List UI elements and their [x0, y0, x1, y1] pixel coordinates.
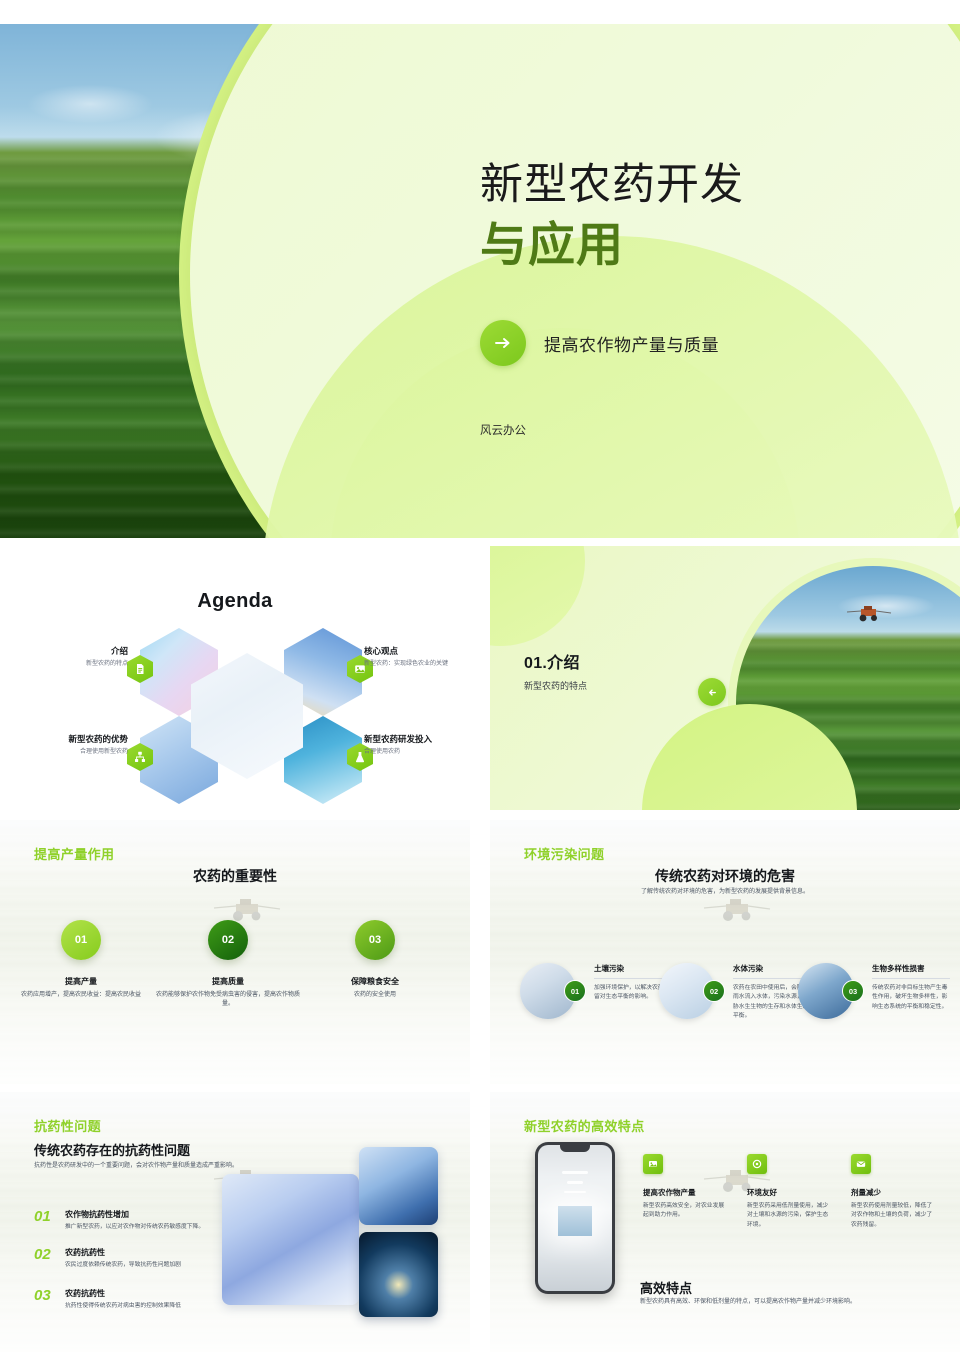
resistance-item-number: 02: [34, 1247, 56, 1270]
slide-headline: 传统农药对环境的危害: [490, 866, 960, 886]
tractor-icon: [702, 899, 772, 921]
slide-headline: 农药的重要性: [0, 866, 470, 886]
slide-deck: 抗药性是农药研发中的一个重要问题，会对农作物产量和质量造成严重影响。: [34, 1162, 244, 1172]
decorative-blob-top-left: [490, 546, 585, 646]
section-subtitle: 新型农药的特点: [524, 679, 587, 692]
env-item-number: 01: [564, 980, 586, 1002]
resistance-item-number: 01: [34, 1209, 56, 1232]
arrow-left-icon[interactable]: [698, 678, 726, 706]
agenda-item-desc: 合理使用农药: [364, 748, 470, 757]
agenda-item-desc: 合理使用新型农药: [20, 748, 128, 757]
slide-headline: 传统农药存在的抗药性问题: [34, 1140, 190, 1159]
agenda-item-heading: 介绍: [20, 646, 128, 657]
agenda-item-1[interactable]: 核心观点 新型农药：实现绿色农业的关键: [364, 646, 470, 669]
agenda-item-0[interactable]: 介绍 新型农药的特点: [20, 646, 128, 669]
env-item-number: 02: [703, 980, 725, 1002]
agenda-item-heading: 新型农药的优势: [20, 734, 128, 745]
agenda-item-desc: 新型农药：实现绿色农业的关键: [364, 660, 470, 669]
yield-item-2: 保障粮食安全 农药的安全使用: [302, 976, 448, 1000]
tractor-icon: [846, 606, 892, 622]
yield-item-desc: 农药能够保护农作物免受病虫害的侵害，提高农作物质量。: [155, 991, 301, 1009]
slide-label: 环境污染问题: [524, 844, 604, 863]
resistance-item-heading: 农作物抗药性增加: [65, 1209, 204, 1220]
resistance-item-0: 01 农作物抗药性增加 推广新型农药，以应对农作物对传统农药敏感度下降。: [34, 1209, 249, 1232]
target-icon: [747, 1154, 767, 1174]
title-content: 新型农药开发 与应用 提高农作物产量与质量 风云办公: [480, 24, 960, 538]
slide-agenda: Agenda 介绍 新型农药的特点 核心观点 新型农药：实现绿色农业的关键: [0, 546, 470, 810]
page-title-line1: 新型农药开发: [480, 150, 744, 212]
section-number-title: 01.介绍: [524, 649, 587, 673]
arrow-right-icon[interactable]: [480, 320, 526, 366]
env-item-0: 01 土壤污染 加强环境保护，以解决农药残留对生态平衡的影响。: [520, 963, 672, 1019]
feature-desc: 新型农药高效安全，对农业发展起到助力作用。: [643, 1202, 729, 1221]
slide-features: 新型农药的高效特点 提高农作物产量 新型农药高效安全，对农业发展起到助力作用。 …: [490, 1092, 960, 1352]
feature-item-0: 提高农作物产量 新型农药高效安全，对农业发展起到助力作用。: [643, 1154, 729, 1221]
mail-icon: [851, 1154, 871, 1174]
env-item-number: 03: [842, 980, 864, 1002]
page-title-line2: 与应用: [480, 206, 624, 275]
step-badge-03: 03: [355, 920, 395, 960]
resistance-item-desc: 推广新型农药，以应对农作物对传统农药敏感度下降。: [65, 1223, 204, 1232]
phone-notch: [560, 1145, 590, 1152]
resistance-item-number: 03: [34, 1288, 56, 1311]
slide-yield-effect: 提高产量作用 农药的重要性 01 02 03 提高产量 农药应用增产，提高农民收…: [0, 820, 470, 1084]
title-subtitle-row: 提高农作物产量与质量: [480, 320, 719, 366]
phone-screen-image: [558, 1206, 592, 1236]
agenda-item-3[interactable]: 新型农药研发投入 合理使用农药: [364, 734, 470, 757]
features-summary-heading: 高效特点: [640, 1278, 692, 1297]
resistance-item-desc: 农民过度依赖传统农药，导致抗药性问题加剧: [65, 1261, 181, 1270]
yield-item-desc: 农药的安全使用: [302, 991, 448, 1000]
feature-item-1: 环境友好 新型农药采用低剂量使用，减少对土壤和水源的污染，保护生态环境。: [747, 1154, 833, 1230]
presentation-deck: 新型农药开发 与应用 提高农作物产量与质量 风云办公 Agenda: [0, 0, 960, 1352]
yield-item-heading: 保障粮食安全: [302, 976, 448, 987]
yield-item-1: 提高质量 农药能够保护农作物免受病虫害的侵害，提高农作物质量。: [155, 976, 301, 1009]
lab-photo-microplate: [359, 1147, 438, 1225]
yield-item-heading: 提高产量: [8, 976, 154, 987]
slide-label: 抗药性问题: [34, 1116, 101, 1135]
feature-heading: 剂量减少: [851, 1187, 937, 1198]
env-item-2: 03 生物多样性损害 传统农药对非目标生物产生毒性作用，破坏生物多样性，影响生态…: [798, 963, 950, 1019]
agenda-item-heading: 新型农药研发投入: [364, 734, 470, 745]
yield-item-0: 提高产量 农药应用增产，提高农民收益：提高农民收益: [8, 976, 154, 1000]
agenda-item-2[interactable]: 新型农药的优势 合理使用新型农药: [20, 734, 128, 757]
slide-deck: 了解传统农药对环境的危害，为新型农药的发展提供背景信息。: [625, 888, 825, 897]
slide-section-intro: 01.介绍 新型农药的特点: [490, 546, 960, 810]
agenda-item-heading: 核心观点: [364, 646, 470, 657]
yield-item-desc: 农药应用增产，提高农民收益：提高农民收益: [8, 991, 154, 1000]
agenda-item-desc: 新型农药的特点: [20, 660, 128, 669]
feature-heading: 环境友好: [747, 1187, 833, 1198]
features-summary-desc: 新型农药具有高效、环保和低剂量的特点，可以提高农作物产量并减少环境影响。: [640, 1298, 930, 1308]
divider: [872, 978, 950, 979]
resistance-item-heading: 农药抗药性: [65, 1288, 181, 1299]
slide-environment-pollution: 环境污染问题 传统农药对环境的危害 了解传统农药对环境的危害，为新型农药的发展提…: [490, 820, 960, 1084]
step-badge-02: 02: [208, 920, 248, 960]
env-item-desc: 传统农药对非目标生物产生毒性作用，破坏生物多样性，影响生态系统的平衡和稳定性。: [872, 984, 950, 1012]
feature-item-2: 剂量减少 新型农药使用剂量较低，降低了对农作物和土壤的负荷，减少了农药残留。: [851, 1154, 937, 1230]
yield-item-heading: 提高质量: [155, 976, 301, 987]
env-item-heading: 生物多样性损害: [872, 963, 950, 974]
env-item-1: 02 水体污染 农药在农田中使用后，会随着雨水流入水体，污染水源，威胁水生生物的…: [659, 963, 811, 1021]
title-subtitle: 提高农作物产量与质量: [544, 331, 719, 356]
phone-mockup: [535, 1142, 615, 1294]
feature-heading: 提高农作物产量: [643, 1187, 729, 1198]
slide-title: 新型农药开发 与应用 提高农作物产量与质量 风云办公: [0, 24, 960, 538]
tractor-icon: [212, 899, 282, 921]
agenda-title: Agenda: [0, 590, 470, 613]
title-author: 风云办公: [480, 422, 526, 438]
section-text: 01.介绍 新型农药的特点: [524, 649, 587, 692]
slide-label: 提高产量作用: [34, 844, 114, 863]
resistance-item-heading: 农药抗药性: [65, 1247, 181, 1258]
resistance-item-1: 02 农药抗药性 农民过度依赖传统农药，导致抗药性问题加剧: [34, 1247, 249, 1270]
resistance-item-desc: 抗药性使得传统农药对病虫害的控制效果降低: [65, 1302, 181, 1311]
feature-desc: 新型农药采用低剂量使用，减少对土壤和水源的污染，保护生态环境。: [747, 1202, 833, 1230]
resistance-item-2: 03 农药抗药性 抗药性使得传统农药对病虫害的控制效果降低: [34, 1288, 249, 1311]
slide-label: 新型农药的高效特点: [524, 1116, 645, 1135]
feature-desc: 新型农药使用剂量较低，降低了对农作物和土壤的负荷，减少了农药残留。: [851, 1202, 937, 1230]
agenda-hex-image-center: [191, 653, 303, 779]
step-badge-01: 01: [61, 920, 101, 960]
lab-photo-pipette: [222, 1174, 359, 1305]
lab-photo-dna: [359, 1232, 438, 1317]
image-icon: [643, 1154, 663, 1174]
slide-resistance-problem: 抗药性问题 传统农药存在的抗药性问题 抗药性是农药研发中的一个重要问题，会对农作…: [0, 1092, 470, 1352]
